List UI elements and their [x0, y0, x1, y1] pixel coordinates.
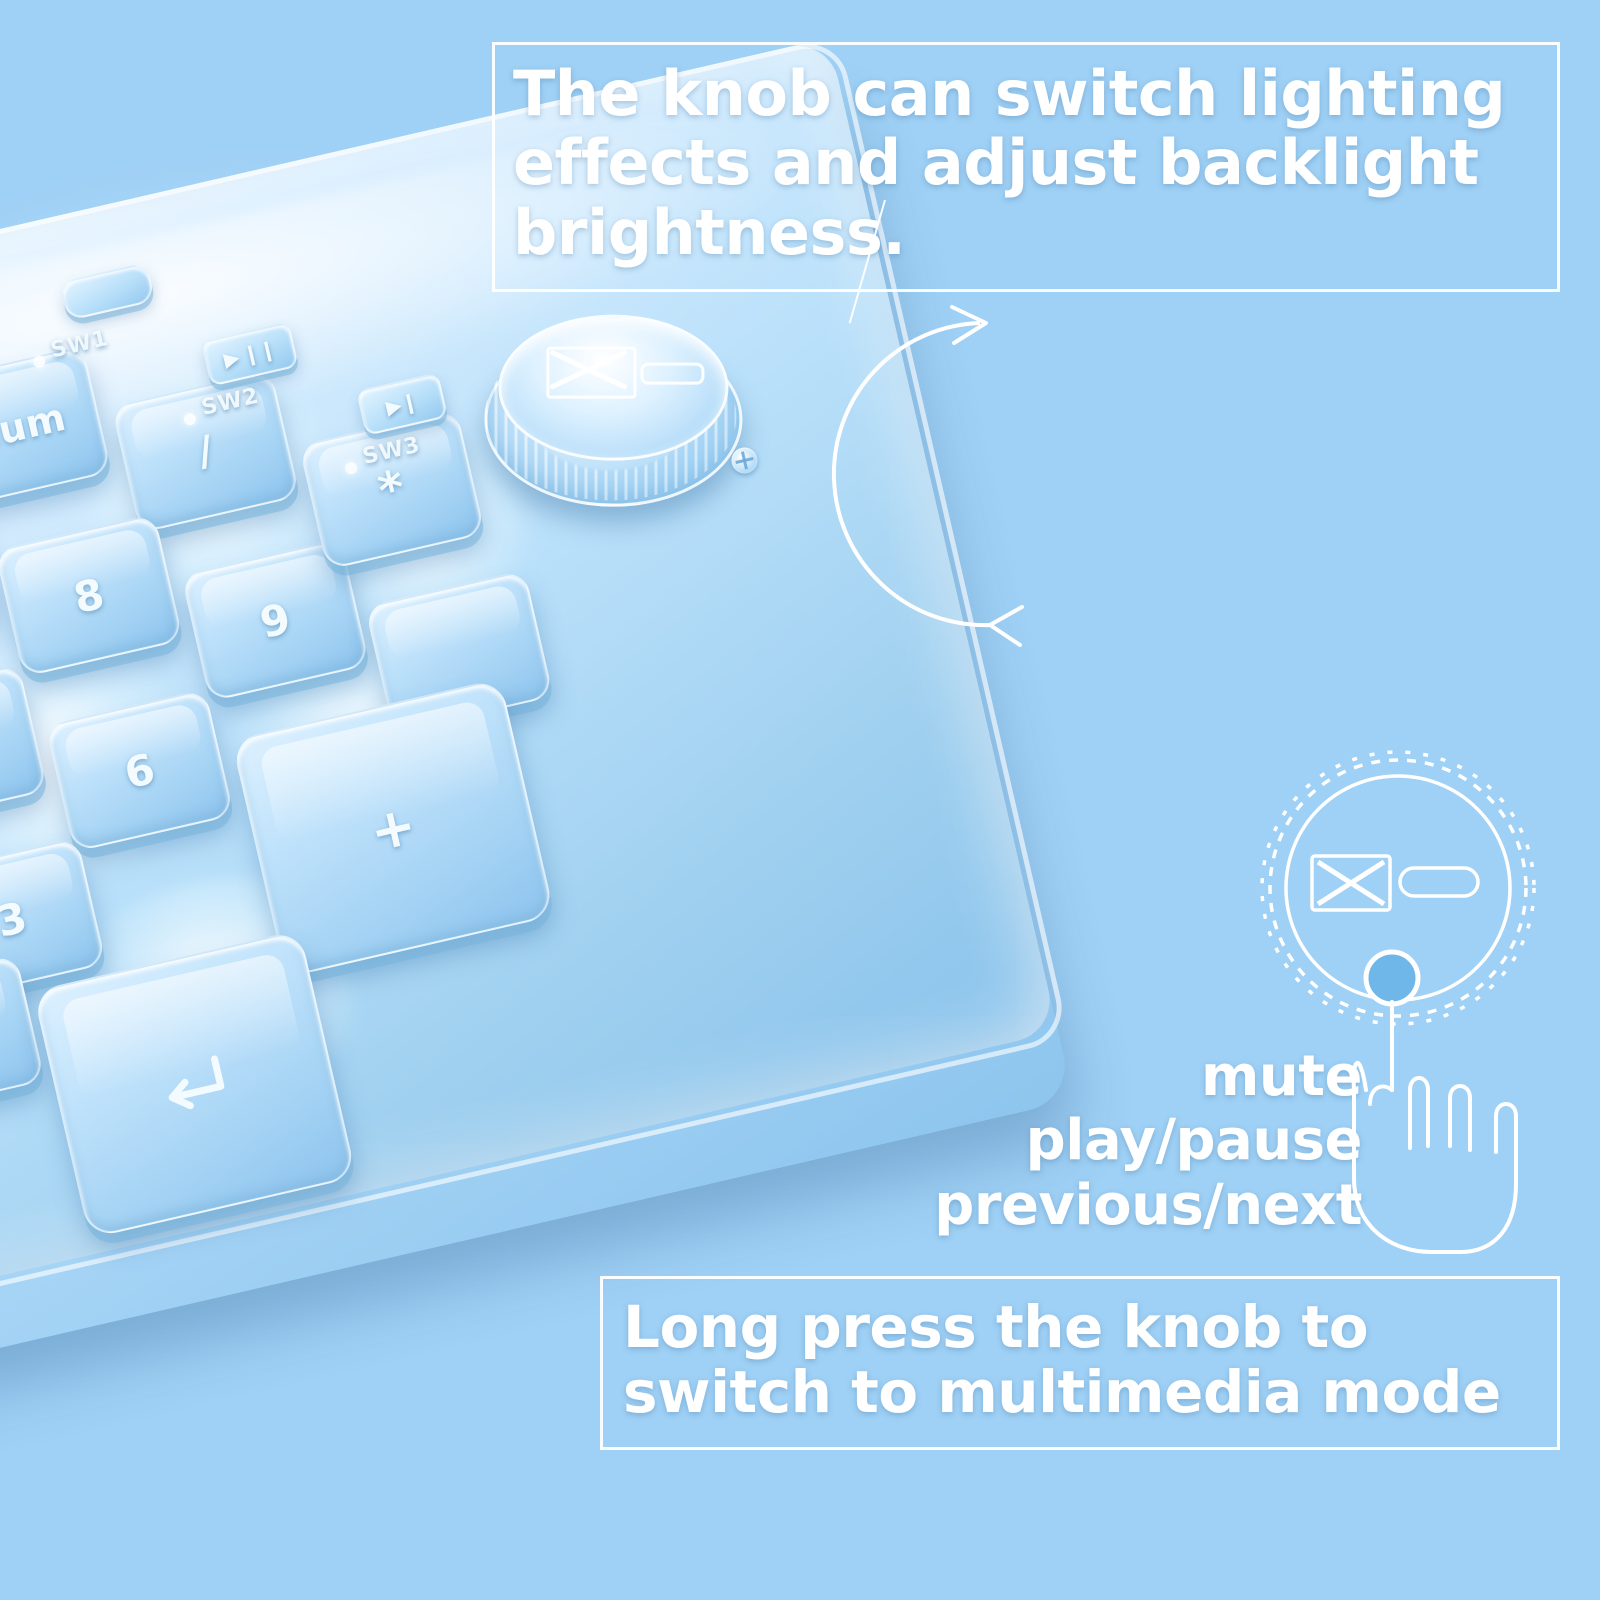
- callout-top-text: The knob can switch lighting effects and…: [513, 57, 1505, 269]
- media-function-mute: mute: [934, 1045, 1362, 1109]
- callout-bottom: Long press the knob to switch to multime…: [600, 1276, 1560, 1450]
- callout-top: The knob can switch lighting effects and…: [492, 42, 1560, 292]
- finger-press-icon: [1320, 940, 1540, 1270]
- media-function-prev-next: previous/next: [934, 1174, 1362, 1238]
- enter-arrow-icon: [144, 1045, 245, 1124]
- media-function-list: mute play/pause previous/next: [934, 1045, 1362, 1238]
- volume-bar-icon: [1400, 868, 1478, 896]
- mute-cross-icon: [1318, 862, 1384, 904]
- media-function-play-pause: play/pause: [934, 1109, 1362, 1173]
- mute-cross-icon: [546, 347, 630, 393]
- rotary-knob[interactable]: [484, 315, 736, 530]
- product-infographic: Home PgUp PgDn Num / 7 8 9 *: [0, 0, 1600, 1600]
- knob-rotation-arrows: [790, 295, 1150, 675]
- volume-bar-icon: [640, 363, 704, 385]
- callout-bottom-text: Long press the knob to switch to multime…: [623, 1293, 1501, 1426]
